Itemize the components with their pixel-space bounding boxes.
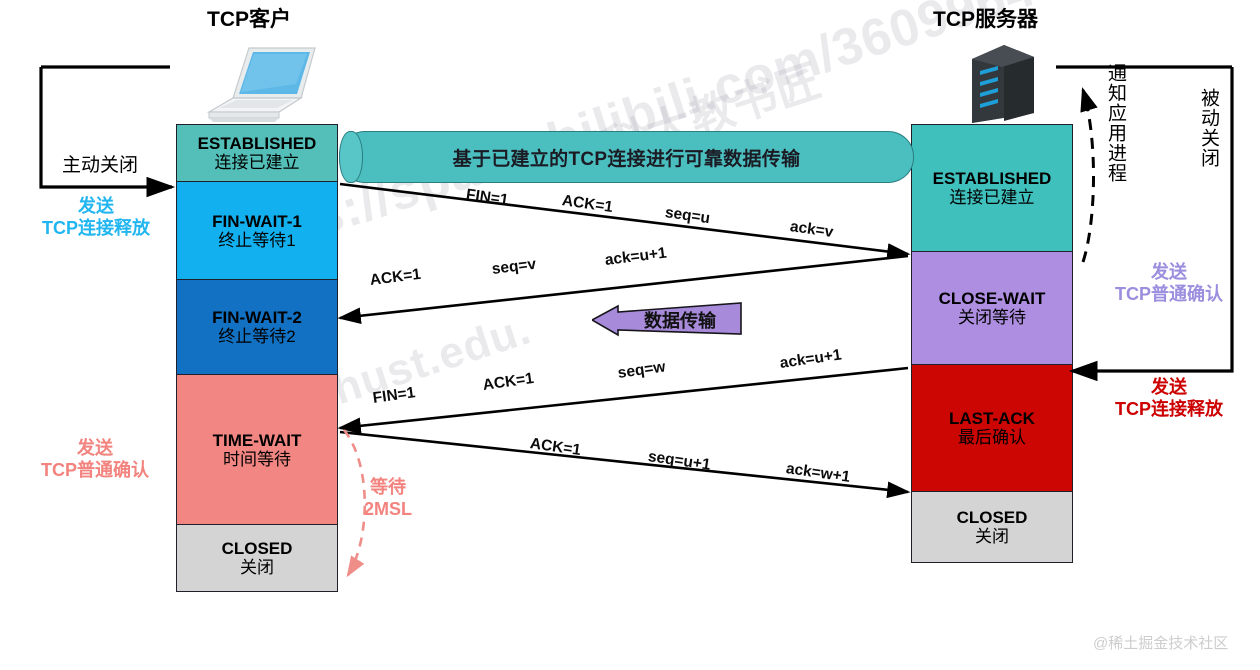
server-state-established: ESTABLISHED连接已建立 xyxy=(911,124,1073,252)
server-send-release-annotation: 发送 TCP连接释放 xyxy=(1084,377,1254,421)
cylinder-cap xyxy=(339,131,363,183)
state-name-cn: 关闭 xyxy=(240,558,274,577)
server-send-ack-annotation: 发送 TCP普通确认 xyxy=(1084,262,1254,306)
client-state-fin-wait-1: FIN-WAIT-1终止等待1 xyxy=(176,181,338,281)
passive-close-label: 被动关闭 xyxy=(1198,88,1218,168)
state-name-en: CLOSED xyxy=(957,508,1028,527)
wait-2msl-annotation: 等待 2MSL xyxy=(364,477,412,520)
server-send-ack-line1: 发送 xyxy=(1084,262,1254,284)
state-name-en: FIN-WAIT-2 xyxy=(212,308,302,327)
client-state-established: ESTABLISHED连接已建立 xyxy=(176,124,338,182)
server-tower-icon xyxy=(960,35,1046,130)
packet-label: ACK=1 xyxy=(369,266,422,290)
state-name-en: TIME-WAIT xyxy=(213,431,302,450)
client-state-column: ESTABLISHED连接已建立FIN-WAIT-1终止等待1FIN-WAIT-… xyxy=(176,126,338,592)
reliable-transfer-banner-label: 基于已建立的TCP连接进行可靠数据传输 xyxy=(453,144,801,171)
data-transfer-label: 数据传输 xyxy=(620,307,740,333)
state-name-cn: 时间等待 xyxy=(223,450,291,469)
packet-label: seq=u xyxy=(664,204,711,228)
server-send-release-line2: TCP连接释放 xyxy=(1084,399,1254,421)
active-close-label: 主动关闭 xyxy=(62,150,138,177)
client-state-fin-wait-2: FIN-WAIT-2终止等待2 xyxy=(176,279,338,375)
packet-label: ack=u+1 xyxy=(779,346,843,372)
client-send-release-line1: 发送 xyxy=(16,196,176,218)
client-state-time-wait: TIME-WAIT时间等待 xyxy=(176,374,338,526)
state-name-en: ESTABLISHED xyxy=(198,134,317,153)
client-send-ack-line1: 发送 xyxy=(14,438,176,460)
packet-label: ACK=1 xyxy=(561,192,614,217)
state-name-cn: 关闭 xyxy=(975,527,1009,546)
server-state-closed: CLOSED关闭 xyxy=(911,491,1073,563)
server-send-ack-line2: TCP普通确认 xyxy=(1084,284,1254,306)
packet-label: ack=w+1 xyxy=(785,460,852,487)
packet-label: ack=u+1 xyxy=(604,245,668,270)
reliable-transfer-banner: 基于已建立的TCP连接进行可靠数据传输 xyxy=(339,131,914,183)
state-name-en: LAST-ACK xyxy=(949,409,1035,428)
laptop-icon xyxy=(197,40,322,130)
state-name-cn: 连接已建立 xyxy=(950,188,1035,207)
state-name-en: CLOSED xyxy=(222,539,293,558)
state-name-cn: 关闭等待 xyxy=(958,308,1026,327)
packet-label: ACK=1 xyxy=(529,435,582,460)
watermark-label: @稀土掘金技术社区 xyxy=(1093,632,1228,653)
state-name-cn: 终止等待1 xyxy=(218,231,295,250)
notify-app-process-label: 通知应用进程 xyxy=(1105,63,1125,183)
data-transfer-arrow-box: 数据传输 xyxy=(592,301,742,339)
state-name-en: FIN-WAIT-1 xyxy=(212,212,302,231)
packet-label: seq=w xyxy=(617,358,667,382)
packet-label: ack=v xyxy=(789,218,835,242)
server-send-release-line1: 发送 xyxy=(1084,377,1254,399)
diagram-canvas: https://space.bilibili.com/360996402 jga… xyxy=(0,0,1260,670)
server-state-close-wait: CLOSE-WAIT关闭等待 xyxy=(911,251,1073,366)
packet-label: seq=u+1 xyxy=(647,448,712,475)
server-state-last-ack: LAST-ACK最后确认 xyxy=(911,364,1073,492)
state-name-cn: 终止等待2 xyxy=(218,327,295,346)
client-send-release-annotation: 发送 TCP连接释放 xyxy=(16,196,176,240)
client-send-release-line2: TCP连接释放 xyxy=(16,218,176,240)
client-send-ack-line2: TCP普通确认 xyxy=(14,460,176,482)
client-state-closed: CLOSED关闭 xyxy=(176,524,338,592)
state-name-cn: 最后确认 xyxy=(958,428,1026,447)
wait-2msl-line1: 等待 xyxy=(364,477,412,499)
wait-2msl-line2: 2MSL xyxy=(364,499,412,521)
packet-label: seq=v xyxy=(491,256,537,279)
server-title: TCP服务器 xyxy=(933,3,1038,33)
client-title: TCP客户 xyxy=(207,3,291,33)
state-name-en: ESTABLISHED xyxy=(933,169,1052,188)
client-send-ack-annotation: 发送 TCP普通确认 xyxy=(14,438,176,482)
server-state-column: ESTABLISHED连接已建立CLOSE-WAIT关闭等待LAST-ACK最后… xyxy=(911,126,1073,563)
state-name-cn: 连接已建立 xyxy=(215,153,300,172)
packet-label: ACK=1 xyxy=(482,370,535,395)
state-name-en: CLOSE-WAIT xyxy=(939,289,1046,308)
